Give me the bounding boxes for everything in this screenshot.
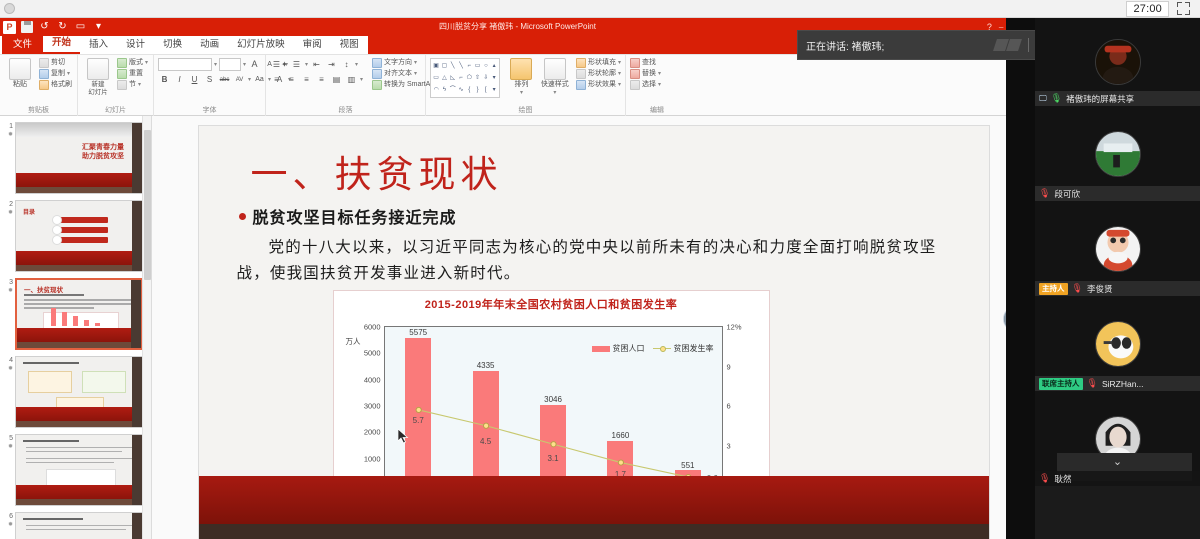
chevron-down-icon[interactable]: ▾ [145,58,148,68]
distribute-button[interactable]: ▤ [330,73,343,86]
align-right-button[interactable]: ≡ [300,73,313,86]
shape-arrow-down-icon[interactable]: ⇩ [482,72,490,84]
reset-label: 重置 [129,69,143,79]
scrollbar-thumb[interactable] [144,130,151,280]
thumbnail-item[interactable]: 5 ✹ [0,431,151,509]
shape-fill-button[interactable]: 形状填充 ▾ [576,58,621,68]
powerpoint-window: P ↺ ↻ ▭ ▾ 四川脱贫分享 褚傲玮 - Microsoft PowerPo… [0,18,1035,539]
participant-name: 段可欣 [1054,188,1080,200]
chart-y-axis-label: 万人 [346,336,361,347]
current-slide[interactable]: 一、扶贫现状 脱贫攻坚目标任务接近完成 党的十八大以来，以习近平同志为核心的党中… [199,126,989,539]
customize-qat-icon[interactable]: ▾ [92,21,105,34]
shape-effects-icon [576,80,586,90]
ribbon-group-editing: 查找 替换 ▾ 选择 ▾ 编辑 [626,55,688,116]
thumbnail-scrollbar[interactable] [142,116,151,539]
shape-brace-right-icon[interactable]: } [473,84,481,96]
video-tile[interactable]: ⌄ 🎙 耿然 [1035,391,1200,486]
microphone-on-icon: 🎙 [1051,94,1062,103]
slide-title: 一、扶贫现状 [251,144,503,198]
slide-thumbnail-panel[interactable]: 1 ✹ 汇聚青春力量 助力脱贫攻坚 2 ✹ [0,116,152,539]
shape-more-icon[interactable]: ▴ [490,60,498,72]
ribbon-group-paragraph: ☰ ▾ ☰ ▾ ⇤ ⇥ ↕ ▾ ≡ ≡ ≡ [266,55,426,116]
justify-button[interactable]: ≡ [315,73,328,86]
shape-brace-left-icon[interactable]: { [465,84,473,96]
y-tick: 5000 [364,349,381,358]
shape-bracket-icon[interactable]: [ [482,84,490,96]
copy-icon [39,69,49,79]
reset-icon [117,69,127,79]
bold-button[interactable]: B [158,73,171,86]
chart-legend: 贫困人口 贫困发生率 [592,343,714,354]
find-label: 查找 [642,58,656,68]
shape-outline-button[interactable]: 形状轮廓 ▾ [576,69,621,79]
speaking-indicator-toast: 正在讲话: 褚傲玮; ↰ [797,30,1057,60]
chevron-down-icon[interactable]: ▾ [355,61,358,68]
shape-elbow-icon[interactable]: ⌐ [465,60,473,72]
microphone-muted-icon: 🎙 [1039,474,1050,483]
slide-decor-band-dark [199,524,989,539]
thumbnail-item[interactable]: 2 ✹ 目录 [0,197,151,275]
cohost-role-badge: 联席主持人 [1039,378,1083,390]
search-icon [630,58,640,68]
participant-name-bar: 🖵 🎙 褚傲玮的屏幕共享 [1035,91,1200,106]
animation-star-icon: ✹ [8,521,13,530]
thumbnail-item[interactable]: 1 ✹ 汇聚青春力量 助力脱贫攻坚 [0,119,151,197]
chevron-down-icon[interactable]: ▾ [658,80,661,90]
thumbnail-title: 目录 [23,207,35,216]
shape-triangle-icon[interactable]: △ [440,72,448,84]
thumbnail-preview[interactable]: 目录 [15,200,143,272]
new-slide-icon [87,58,109,80]
copy-label: 复制 [51,69,65,79]
avatar [1095,39,1141,85]
cut-button[interactable]: 剪切 [39,58,72,68]
chevron-down-icon[interactable]: ▾ [214,61,217,68]
quick-styles-icon [544,58,566,80]
microphone-muted-icon: 🎙 [1072,284,1083,293]
brush-icon [39,80,49,90]
align-left-button[interactable]: ≡ [270,73,283,86]
undo-icon[interactable]: ↺ [38,21,51,34]
scissors-icon [39,58,49,68]
thumbnail-number: 5 [9,434,13,443]
shape-gallery-expand-icon[interactable]: ▾ [490,84,498,96]
shape-fill-label: 形状填充 [588,58,616,68]
zoom-menu-icon[interactable] [4,3,15,14]
participant-name-bar: 主持人 🎙 李俊贤 [1035,281,1200,296]
shape-outline-icon [576,69,586,79]
chevron-down-icon[interactable]: ▾ [618,69,621,79]
ribbon-group-slides: 新建 幻灯片 版式 ▾ 重置 [78,55,154,116]
chevron-down-icon[interactable]: ▾ [414,58,417,68]
thumbnail-preview[interactable] [15,434,143,506]
text-direction-label: 文字方向 [384,58,412,68]
legend-item-population: 贫困人口 [592,343,645,354]
paste-button[interactable]: 粘贴 [4,58,36,89]
thumbnail-number: 2 [9,200,13,209]
new-slide-button[interactable]: 新建 幻灯片 [82,58,114,97]
align-text-label: 对齐文本 [384,69,412,79]
replace-button[interactable]: 替换 ▾ [630,69,661,79]
participant-name: 褚傲玮的屏幕共享 [1066,93,1134,105]
copy-button[interactable]: 复制 ▾ [39,69,72,79]
select-icon [630,80,640,90]
paragraph-group-label: 段落 [270,106,421,116]
zoom-top-bar-left [4,3,15,14]
shape-arrow-icon[interactable]: ╲ [457,60,465,72]
tab-file[interactable]: 文件 [2,35,43,54]
y-tick: 2000 [364,428,381,437]
avatar [1095,321,1141,367]
video-tile-share[interactable]: 🖵 🎙 褚傲玮的屏幕共享 [1035,18,1200,106]
shape-frame-icon[interactable]: ▢ [440,60,448,72]
text-shadow-button[interactable]: S [203,73,216,86]
ppt-logo-icon: P [3,21,16,34]
microphone-muted-icon: 🎙 [1039,189,1050,198]
numbering-button[interactable]: ☰ [290,58,303,71]
participant-name: 李俊贤 [1087,283,1113,295]
increase-indent-button[interactable]: ⇥ [325,58,338,71]
layout-label: 版式 [129,58,143,68]
video-tile[interactable]: 主持人 🎙 李俊贤 [1035,201,1200,296]
align-center-button[interactable]: ≡ [285,73,298,86]
zoom-top-bar-right: 27:00 [1126,1,1196,17]
animation-star-icon: ✹ [8,287,13,296]
thumbnail-title: 一、扶贫现状 [24,284,63,294]
thumbnail-item-selected[interactable]: 3 ✹ 一、扶贫现状 [0,275,151,353]
y2-tick: 9 [727,362,731,371]
thumbnail-title: 汇聚青春力量 助力脱贫攻坚 [24,143,124,161]
layout-button[interactable]: 版式 ▾ [117,58,148,68]
tab-insert[interactable]: 插入 [80,36,117,54]
change-case-button[interactable]: Aa [253,73,266,86]
clipboard-group-label: 剪贴板 [4,106,73,116]
arrange-label: 排列 [514,81,528,89]
participant-name-bar: 联席主持人 🎙 SiRZHan... [1035,376,1200,391]
select-label: 选择 [642,80,656,90]
chart-plot-inner: 6000 5000 4000 3000 2000 1000 0 12% 9 6 [384,326,723,486]
participant-name-bar: 🎙 耿然 [1035,471,1200,486]
thumbnail-preview[interactable] [15,512,143,539]
chevron-down-icon[interactable]: ▾ [67,69,70,79]
line-spacing-button[interactable]: ↕ [340,58,353,71]
start-slideshow-icon[interactable]: ▭ [74,21,87,34]
font-name-input[interactable] [158,58,212,71]
zoom-participant-panel[interactable]: 🖵 🎙 褚傲玮的屏幕共享 🎙 段可欣 [1035,18,1200,539]
slide-bullet-text: 脱贫攻坚目标任务接近完成 [253,204,457,228]
tab-design[interactable]: 设计 [117,36,154,54]
grow-font-button[interactable]: A [248,58,261,71]
slide-paragraph: 党的十八大以来，以习近平同志为核心的党中央以前所未有的决心和力度全面打响脱贫攻坚… [237,234,951,286]
shape-right-triangle-icon[interactable]: ◺ [449,72,457,84]
annotate-icon[interactable] [995,39,1020,51]
shape-lshape-icon[interactable]: ⌐ [457,72,465,84]
fullscreen-icon[interactable] [1177,2,1190,15]
y2-tick: 12% [727,323,742,332]
underline-button[interactable]: U [188,73,201,86]
format-painter-button[interactable]: 格式刷 [39,80,72,90]
video-tile[interactable]: 联席主持人 🎙 SiRZHan... [1035,296,1200,391]
save-icon[interactable] [21,21,33,33]
thumbnail-number: 3 [9,278,13,287]
slide-decor-band [199,476,989,524]
video-tile[interactable]: 🎙 段可欣 [1035,106,1200,201]
font-group-label: 字体 [158,106,261,116]
format-painter-label: 格式刷 [51,80,72,90]
legend-label: 贫困发生率 [674,343,714,354]
y-tick: 3000 [364,402,381,411]
y2-tick: 3 [727,441,731,450]
layout-icon [117,58,127,68]
ribbon-group-drawing: ▣ ▢ ╲ ╲ ⌐ ▭ ○ ▴ ▭ △ ◺ ⌐ ⬠ ⇧ ⇩ [426,55,626,116]
thumbnail-preview[interactable]: 一、扶贫现状 [15,278,143,350]
chevron-down-icon[interactable]: ▾ [243,61,246,68]
editing-group-label: 编辑 [630,106,684,116]
section-icon [117,80,127,90]
avatar [1095,131,1141,177]
shape-scribble-icon[interactable]: ∿ [457,84,465,96]
meeting-timer: 27:00 [1126,1,1169,17]
shape-effects-button[interactable]: 形状效果 ▾ [576,80,621,90]
select-button[interactable]: 选择 ▾ [630,80,661,90]
shape-rect-icon[interactable]: ▭ [473,60,481,72]
shape-fill-icon [576,58,586,68]
arrange-icon [510,58,532,80]
zoom-top-bar: 27:00 [0,0,1200,18]
tab-home[interactable]: 开始 [43,34,80,54]
chart-title: 2015-2019年年末全国农村贫困人口和贫困发生率 [334,291,769,312]
shape-textbox-icon[interactable]: ▣ [432,60,440,72]
replace-icon [630,69,640,79]
thumbnail-number: 6 [9,512,13,521]
reset-button[interactable]: 重置 [117,69,148,79]
animation-star-icon: ✹ [8,131,13,140]
columns-button[interactable]: ▥ [345,73,358,86]
chevron-down-icon[interactable]: ⌄ [1113,455,1122,468]
ribbon: 粘贴 剪切 复制 ▾ 格 [0,55,1035,116]
paste-icon [9,58,31,80]
strikethrough-button[interactable]: abc [218,73,231,86]
section-button[interactable]: 节 ▾ [117,80,148,90]
y2-tick: 6 [727,402,731,411]
shape-pentagon-icon[interactable]: ⬠ [465,72,473,84]
chevron-down-icon[interactable]: ▾ [618,80,621,90]
cut-label: 剪切 [51,58,65,68]
slides-group-label: 幻灯片 [82,106,149,116]
animation-star-icon: ✹ [8,365,13,374]
speaking-text: 正在讲话: 褚傲玮; [806,38,884,53]
slide-bullet-row: 脱贫攻坚目标任务接近完成 [239,204,457,228]
chevron-down-icon[interactable]: ▾ [305,61,308,68]
tab-transitions[interactable]: 切换 [154,36,191,54]
participant-name: SiRZHan... [1102,379,1144,389]
shape-curve-icon[interactable]: ◠ [432,84,440,96]
chevron-down-icon[interactable]: ▾ [248,76,251,83]
chevron-down-icon[interactable]: ▾ [138,80,141,90]
ribbon-group-clipboard: 粘贴 剪切 复制 ▾ 格 [0,55,78,116]
powerpoint-body: 1 ✹ 汇聚青春力量 助力脱贫攻坚 2 ✹ [0,116,1035,539]
shape-rect2-icon[interactable]: ▭ [432,72,440,84]
font-size-input[interactable] [219,58,241,71]
chevron-down-icon[interactable]: ▾ [285,61,288,68]
slide-canvas-area[interactable]: 一、扶贫现状 脱贫攻坚目标任务接近完成 党的十八大以来，以习近平同志为核心的党中… [152,116,1035,539]
thumbnail-preview[interactable] [15,356,143,428]
tab-review[interactable]: 审阅 [294,36,331,54]
redo-icon[interactable]: ↻ [56,21,69,34]
thumbnail-item[interactable]: 4 ✹ [0,353,151,431]
animation-star-icon: ✹ [8,443,13,452]
drawing-group-label: 绘图 [430,106,621,116]
arrange-button[interactable]: 排列 ▾ [506,58,536,97]
chevron-down-icon[interactable]: ▾ [360,76,363,83]
chevron-down-icon[interactable]: ▾ [414,69,417,79]
ribbon-group-font: ▾ ▾ A A ✦ B I U S abc [154,55,266,116]
shape-oval-icon[interactable]: ○ [482,60,490,72]
legend-item-rate: 贫困发生率 [653,343,714,354]
bullet-dot-icon [239,213,246,220]
thumbnail-number: 4 [9,356,13,365]
shape-effects-label: 形状效果 [588,80,616,90]
shapes-gallery[interactable]: ▣ ▢ ╲ ╲ ⌐ ▭ ○ ▴ ▭ △ ◺ ⌐ ⬠ ⇧ ⇩ [430,58,500,98]
tab-slideshow[interactable]: 幻灯片放映 [228,36,294,54]
new-slide-label: 新建 幻灯片 [88,81,108,97]
legend-line-swatch [653,348,671,349]
shape-line-icon[interactable]: ╲ [449,60,457,72]
paste-label: 粘贴 [13,81,27,89]
screen-share-gap [1006,18,1035,539]
chevron-down-icon[interactable]: ▾ [618,58,621,68]
microphone-muted-icon: 🎙 [1087,379,1098,388]
thumbnail-item[interactable]: 6 ✹ [0,509,151,539]
thumbnail-number: 1 [9,122,13,131]
text-direction-icon [372,58,382,68]
y-tick: 1000 [364,454,381,463]
host-role-badge: 主持人 [1039,283,1068,295]
shape-freeform-icon[interactable]: ϟ [440,84,448,96]
shape-arrow-up-icon[interactable]: ⇧ [473,72,481,84]
tab-animations[interactable]: 动画 [191,36,228,54]
tab-view[interactable]: 视图 [331,36,368,54]
participant-name: 耿然 [1054,473,1071,485]
italic-button[interactable]: I [173,73,186,86]
quick-styles-label: 快速样式 [541,81,569,89]
smartart-icon [372,80,382,90]
chevron-down-icon[interactable]: ▾ [553,89,556,97]
align-text-icon [372,69,382,79]
shape-outline-label: 形状轮廓 [588,69,616,79]
screen-share-icon: 🖵 [1039,94,1047,104]
participant-name-bar: 🎙 段可欣 [1035,186,1200,201]
chevron-down-icon[interactable]: ▾ [658,69,661,79]
replace-label: 替换 [642,69,656,79]
shape-more2-icon[interactable]: ▾ [490,72,498,84]
screen-root: 27:00 P ↺ ↻ ▭ ▾ 四川脱贫分享 褚傲玮 - Microsoft P… [0,0,1200,539]
chevron-down-icon[interactable]: ▾ [520,89,523,97]
decrease-indent-button[interactable]: ⇤ [310,58,323,71]
y-tick: 6000 [364,323,381,332]
section-label: 节 [129,80,136,90]
y-tick: 4000 [364,375,381,384]
avatar [1095,226,1141,272]
find-button[interactable]: 查找 [630,58,661,68]
bullets-button[interactable]: ☰ [270,58,283,71]
toast-divider [1028,38,1029,52]
character-spacing-button[interactable]: AV [233,73,246,86]
animation-star-icon: ✹ [8,209,13,218]
shape-arc-icon[interactable]: ⌒ [449,84,457,96]
thumbnail-preview[interactable]: 汇聚青春力量 助力脱贫攻坚 [15,122,143,194]
legend-label: 贫困人口 [613,343,645,354]
legend-bar-swatch [592,346,610,352]
quick-styles-button[interactable]: 快速样式 ▾ [540,58,570,97]
